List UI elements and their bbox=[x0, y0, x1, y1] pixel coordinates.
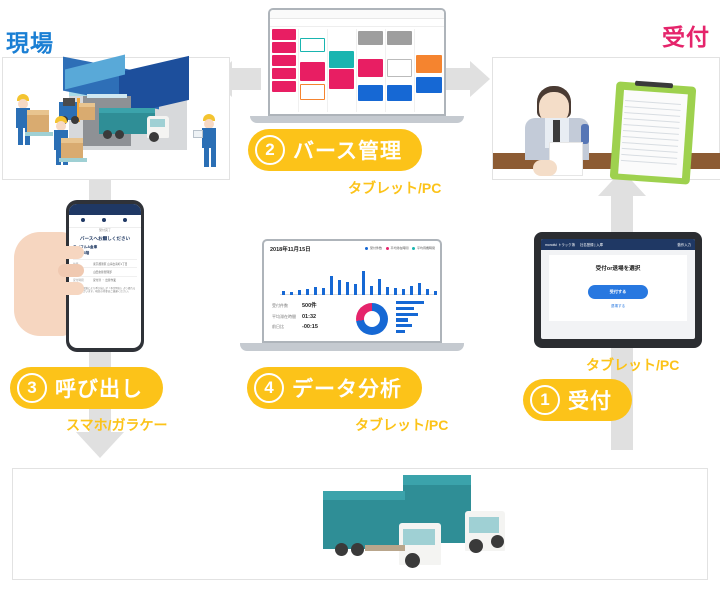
tablet-heading: 受付or退場を選択 bbox=[553, 264, 683, 272]
warehouse-illustration bbox=[3, 58, 229, 179]
step-number: 3 bbox=[17, 373, 47, 403]
nav-brand: monoful トラック簿 bbox=[545, 242, 575, 247]
legend-label: 受付件数 bbox=[370, 246, 382, 250]
worker-figure bbox=[199, 114, 225, 170]
analytics-combo-chart bbox=[280, 255, 435, 295]
schedule-card[interactable] bbox=[329, 69, 354, 89]
metric-label: 前日比 bbox=[272, 324, 302, 330]
step-label: データ分析 bbox=[292, 373, 402, 403]
step-label: バース管理 bbox=[293, 135, 402, 165]
driver-panel bbox=[12, 468, 708, 580]
arrow-site-to-berth-shaft bbox=[231, 68, 261, 90]
list-item[interactable] bbox=[272, 81, 296, 92]
list-item[interactable] bbox=[272, 42, 296, 53]
step-label: 受付 bbox=[568, 385, 612, 415]
diagram-canvas: 現場 受付 ドライバー bbox=[0, 0, 720, 590]
step-device-note-4: タブレット/PC bbox=[355, 415, 448, 435]
schedule-card[interactable] bbox=[358, 31, 383, 45]
schedule-card[interactable] bbox=[416, 55, 442, 73]
phone-subtitle: 受付完了 bbox=[69, 228, 141, 232]
data-analytics-laptop: 2018年11月15日 受付件数 平均滞在時間 平均待機時間 bbox=[262, 239, 442, 343]
checkout-link[interactable]: 退場する bbox=[553, 304, 683, 309]
analytics-hbar-chart-1 bbox=[396, 301, 434, 336]
step-label: 呼び出し bbox=[55, 373, 143, 403]
nav-breadcrumb: 社名登録 | 入庫 bbox=[580, 242, 603, 247]
step-device-note-3: スマホ/ガラケー bbox=[66, 415, 167, 435]
berth-schedule-grid[interactable] bbox=[298, 29, 442, 112]
arrow-berth-to-reception-shaft bbox=[443, 68, 473, 90]
step-number: 4 bbox=[254, 373, 284, 403]
laptop-base bbox=[250, 116, 464, 123]
analytics-metrics: 受付件数500件 平均滞在時間01:32 前日比-00:15 bbox=[272, 301, 318, 335]
metric-value: -00:15 bbox=[302, 324, 318, 330]
nav-action: 動作入力 bbox=[677, 242, 691, 247]
reception-illustration-panel bbox=[492, 57, 720, 180]
legend-label: 平均滞在時間 bbox=[390, 246, 408, 250]
berth-toolbar bbox=[270, 19, 444, 27]
metric-value: 500件 bbox=[302, 301, 317, 309]
list-item[interactable] bbox=[272, 29, 296, 40]
laptop-base bbox=[240, 343, 464, 351]
step-device-note-1: タブレット/PC bbox=[586, 355, 679, 375]
smartphone-device: 受付完了 バースへお願しください モノフルA倉庫 バース3階 住所東京都港区 山… bbox=[66, 200, 144, 352]
berth-pending-list[interactable] bbox=[272, 29, 296, 94]
step-device-note-2: タブレット/PC bbox=[348, 178, 441, 198]
analytics-donut-chart bbox=[356, 303, 388, 335]
row-value: 山田倉庫管理部 bbox=[93, 270, 112, 274]
site-illustration-panel bbox=[2, 57, 230, 180]
arrow-site-to-driver-head bbox=[76, 432, 124, 458]
schedule-card[interactable] bbox=[300, 62, 325, 81]
metric-label: 受付件数 bbox=[272, 303, 302, 309]
schedule-card[interactable] bbox=[300, 84, 325, 100]
step-badge-4: 4 データ分析 bbox=[247, 367, 422, 409]
row-value: 東京都港区 山海台南町1丁目 bbox=[93, 262, 128, 266]
analytics-date: 2018年11月15日 bbox=[270, 245, 311, 253]
tablet-selection-card: 受付or退場を選択 受付する 退場する bbox=[549, 255, 687, 321]
phone-title: バースへお願しください bbox=[71, 236, 139, 242]
schedule-card[interactable] bbox=[358, 59, 383, 77]
tablet-screen[interactable]: monoful トラック簿 社名登録 | 入庫 動作入力 受付or退場を選択 受… bbox=[541, 239, 695, 339]
berth-management-laptop bbox=[268, 8, 446, 116]
zone-label-site: 現場 bbox=[6, 24, 54, 58]
truck-container bbox=[323, 497, 405, 549]
list-item[interactable] bbox=[272, 55, 296, 66]
legend-label: 平均待機時間 bbox=[417, 246, 435, 250]
schedule-card[interactable] bbox=[387, 31, 412, 45]
zone-label-reception: 受付 bbox=[662, 18, 710, 52]
schedule-card[interactable] bbox=[416, 77, 442, 93]
checkin-button[interactable]: 受付する bbox=[588, 285, 649, 298]
metric-value: 01:32 bbox=[302, 314, 316, 320]
phone-app-header bbox=[69, 204, 141, 215]
phone-step-indicator bbox=[69, 215, 141, 228]
berth-app-header bbox=[270, 10, 444, 19]
schedule-card[interactable] bbox=[358, 85, 383, 101]
step-badge-3: 3 呼び出し bbox=[10, 367, 163, 409]
step-badge-1: 1 受付 bbox=[523, 379, 632, 421]
metric-label: 平均滞在時間 bbox=[272, 314, 302, 320]
step-number: 1 bbox=[530, 385, 560, 415]
schedule-card[interactable] bbox=[300, 38, 325, 52]
schedule-card[interactable] bbox=[387, 85, 412, 101]
arrow-berth-to-reception-head bbox=[470, 61, 490, 97]
tablet-device: monoful トラック簿 社名登録 | 入庫 動作入力 受付or退場を選択 受… bbox=[534, 232, 702, 348]
step-badge-2: 2 バース管理 bbox=[248, 129, 422, 171]
driver-trucks-illustration bbox=[13, 469, 707, 579]
reception-guard-illustration bbox=[493, 58, 719, 179]
tablet-app-header: monoful トラック簿 社名登録 | 入庫 動作入力 bbox=[541, 239, 695, 250]
step-number: 2 bbox=[255, 135, 285, 165]
analytics-legend: 受付件数 平均滞在時間 平均待機時間 bbox=[365, 246, 435, 250]
list-item[interactable] bbox=[272, 68, 296, 79]
data-analytics-screen[interactable]: 2018年11月15日 受付件数 平均滞在時間 平均待機時間 bbox=[262, 239, 442, 343]
schedule-card[interactable] bbox=[387, 59, 412, 77]
schedule-card[interactable] bbox=[329, 51, 354, 68]
row-value: 受付済 ・ 出庫作業 bbox=[93, 278, 116, 282]
berth-management-screen[interactable] bbox=[268, 8, 446, 116]
